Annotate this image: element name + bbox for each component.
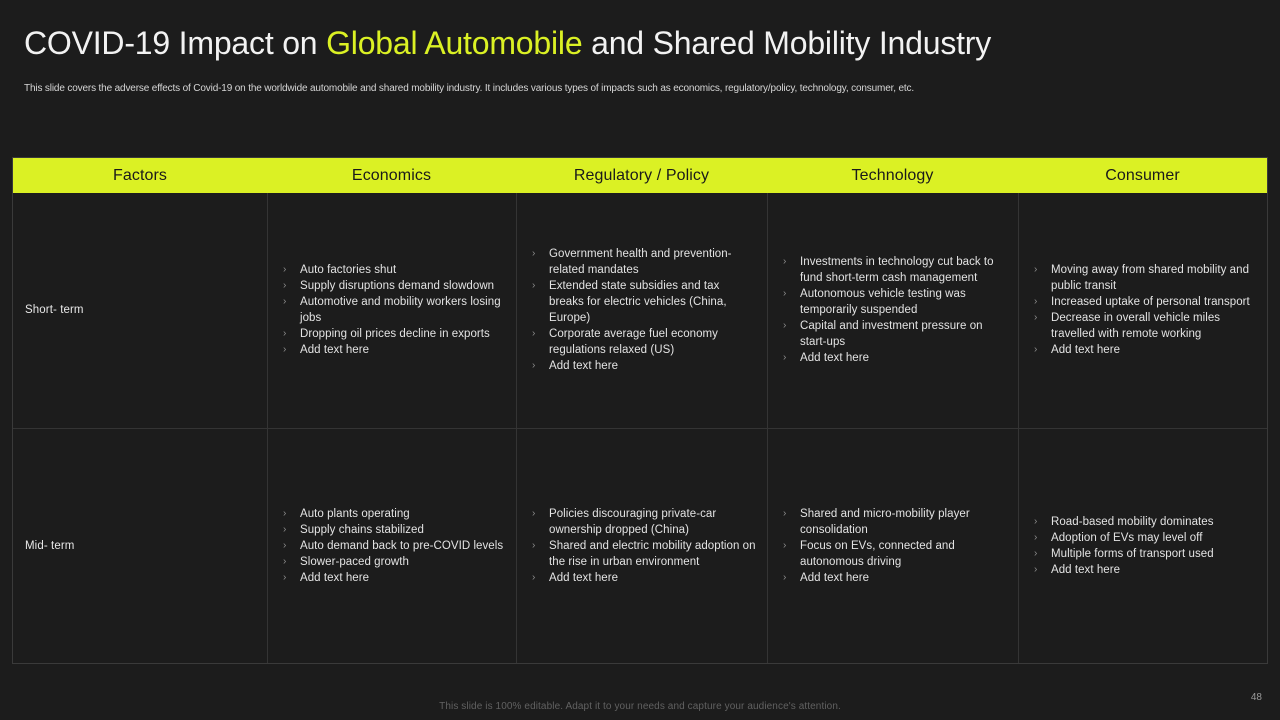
cell-mid-term-regulatory[interactable]: ›Policies discouraging private-car owner… [516,429,767,664]
bullet-text: Shared and electric mobility adoption on… [549,540,756,568]
bullet-item: › Increased uptake of personal transport [1031,294,1257,310]
bullet-item: ›Corporate average fuel economy regulati… [529,326,757,358]
column-header-regulatory-policy: Regulatory / Policy [516,158,767,193]
cell-mid-term-economics[interactable]: ›Auto plants operating›Supply chains sta… [267,429,516,664]
bullet-list: ›Moving away from shared mobility and pu… [1031,262,1257,358]
bullet-item: ›Add text here [529,358,757,374]
bullet-text: Government health and prevention-related… [549,248,732,276]
bullet-text: Extended state subsidies and tax breaks … [549,280,727,324]
table-body: Short- term ›Auto factories shut›Supply … [13,193,1267,663]
bullet-text: Multiple forms of transport used [1051,548,1214,560]
cell-mid-term-technology[interactable]: ›Shared and micro-mobility player consol… [767,429,1018,664]
bullet-item: ›Autonomous vehicle testing was temporar… [780,286,1008,318]
chevron-right-icon: › [283,326,286,342]
slide-subtitle: This slide covers the adverse effects of… [24,82,914,96]
bullet-item: ›Policies discouraging private-car owner… [529,506,757,538]
slide-canvas: COVID-19 Impact on Global Automobile and… [0,0,1280,720]
chevron-right-icon: › [783,538,786,554]
cell-short-term-consumer[interactable]: ›Moving away from shared mobility and pu… [1018,193,1267,428]
bullet-item: ›Add text here [1031,342,1257,358]
bullet-list: ›Policies discouraging private-car owner… [529,506,757,586]
chevron-right-icon: › [1034,262,1037,278]
bullet-text: Auto factories shut [300,264,396,276]
cell-short-term-economics[interactable]: ›Auto factories shut›Supply disruptions … [267,193,516,428]
page-title: COVID-19 Impact on Global Automobile and… [24,22,991,64]
chevron-right-icon: › [1034,310,1037,326]
bullet-item: ›Slower-paced growth [280,554,506,570]
bullet-text: Policies discouraging private-car owners… [549,508,716,536]
bullet-list: ›Government health and prevention-relate… [529,246,757,374]
chevron-right-icon: › [283,538,286,554]
bullet-text: Automotive and mobility workers losing j… [300,296,501,324]
bullet-text: Supply disruptions demand slowdown [300,280,494,292]
bullet-text: Shared and micro-mobility player consoli… [800,508,970,536]
bullet-text: Road-based mobility dominates [1051,516,1214,528]
title-text-accent: Global Automobile [326,25,582,61]
row-label-cell-mid-term: Mid- term [13,429,267,664]
table-row: Short- term ›Auto factories shut›Supply … [13,193,1267,428]
bullet-item: ›Auto factories shut [280,262,506,278]
bullet-text: Auto demand back to pre-COVID levels [300,540,503,552]
bullet-item: ›Supply disruptions demand slowdown [280,278,506,294]
bullet-item: ›Shared and electric mobility adoption o… [529,538,757,570]
bullet-item: ›Dropping oil prices decline in exports [280,326,506,342]
bullet-text: Increased uptake of personal transport [1051,296,1250,308]
impact-table: Factors Economics Regulatory / Policy Te… [12,157,1268,664]
column-header-consumer: Consumer [1018,158,1267,193]
bullet-text: Add text here [300,572,369,584]
column-header-technology: Technology [767,158,1018,193]
bullet-text: Add text here [1051,564,1120,576]
chevron-right-icon: › [283,522,286,538]
bullet-item: › Capital and investment pressure on sta… [780,318,1008,350]
chevron-right-icon: › [283,262,286,278]
chevron-right-icon: › [783,286,786,302]
title-text-tail: and Shared Mobility Industry [582,25,991,61]
chevron-right-icon: › [1034,562,1037,578]
bullet-item: ›Shared and micro-mobility player consol… [780,506,1008,538]
chevron-right-icon: › [532,538,535,554]
chevron-right-icon: › [283,294,286,310]
chevron-right-icon: › [1034,530,1037,546]
bullet-list: ›Shared and micro-mobility player consol… [780,506,1008,586]
bullet-list: ›Investments in technology cut back to f… [780,254,1008,366]
title-text-lead: COVID-19 Impact on [24,25,326,61]
bullet-text: Add text here [300,344,369,356]
bullet-text: Add text here [800,572,869,584]
bullet-item: ›Supply chains stabilized [280,522,506,538]
chevron-right-icon: › [532,358,535,374]
bullet-text: Add text here [549,360,618,372]
chevron-right-icon: › [283,570,286,586]
bullet-item: ›Auto demand back to pre-COVID levels [280,538,506,554]
chevron-right-icon: › [283,342,286,358]
row-label-cell-short-term: Short- term [13,193,267,428]
bullet-text: Add text here [1051,344,1120,356]
chevron-right-icon: › [783,254,786,270]
bullet-text: Autonomous vehicle testing was temporari… [800,288,966,316]
bullet-item: ›Extended state subsidies and tax breaks… [529,278,757,326]
bullet-item: ›Multiple forms of transport used [1031,546,1257,562]
cell-short-term-regulatory[interactable]: ›Government health and prevention-relate… [516,193,767,428]
chevron-right-icon: › [532,326,535,342]
chevron-right-icon: › [783,570,786,586]
chevron-right-icon: › [1034,342,1037,358]
bullet-item: ›Add text here [1031,562,1257,578]
cell-short-term-technology[interactable]: ›Investments in technology cut back to f… [767,193,1018,428]
bullet-text: Moving away from shared mobility and pub… [1051,264,1249,292]
bullet-text: Focus on EVs, connected and autonomous d… [800,540,955,568]
page-number: 48 [1251,692,1262,703]
chevron-right-icon: › [1034,546,1037,562]
chevron-right-icon: › [1034,294,1037,310]
cell-mid-term-consumer[interactable]: ›Road-based mobility dominates›Adoption … [1018,429,1267,664]
bullet-text: Add text here [549,572,618,584]
bullet-item: ›Auto plants operating [280,506,506,522]
bullet-text: Slower-paced growth [300,556,409,568]
bullet-item: ›Add text here [780,350,1008,366]
bullet-item: ›Moving away from shared mobility and pu… [1031,262,1257,294]
bullet-text: Auto plants operating [300,508,410,520]
bullet-text: Adoption of EVs may level off [1051,532,1202,544]
bullet-list: ›Auto plants operating›Supply chains sta… [280,506,506,586]
bullet-list: ›Auto factories shut›Supply disruptions … [280,262,506,358]
chevron-right-icon: › [532,278,535,294]
bullet-text: Capital and investment pressure on start… [800,320,983,348]
chevron-right-icon: › [532,506,535,522]
bullet-item: ›Investments in technology cut back to f… [780,254,1008,286]
bullet-text: Corporate average fuel economy regulatio… [549,328,718,356]
chevron-right-icon: › [532,570,535,586]
bullet-text: Decrease in overall vehicle miles travel… [1051,312,1220,340]
chevron-right-icon: › [783,506,786,522]
table-row: Mid- term ›Auto plants operating›Supply … [13,428,1267,664]
bullet-item: ›Add text here [780,570,1008,586]
bullet-item: ›Automotive and mobility workers losing … [280,294,506,326]
column-header-economics: Economics [267,158,516,193]
bullet-text: Add text here [800,352,869,364]
chevron-right-icon: › [1034,514,1037,530]
column-header-factors: Factors [13,158,267,193]
table-header-row: Factors Economics Regulatory / Policy Te… [13,158,1267,193]
bullet-item: ›Adoption of EVs may level off [1031,530,1257,546]
row-label-text: Short- term [25,304,84,316]
bullet-item: ›Decrease in overall vehicle miles trave… [1031,310,1257,342]
bullet-text: Supply chains stabilized [300,524,424,536]
bullet-item: ›Add text here [280,342,506,358]
bullet-item: ›Add text here [529,570,757,586]
chevron-right-icon: › [283,506,286,522]
bullet-item: ›Add text here [280,570,506,586]
chevron-right-icon: › [283,554,286,570]
bullet-item: ›Road-based mobility dominates [1031,514,1257,530]
footer-note: This slide is 100% editable. Adapt it to… [0,701,1280,712]
row-label-text: Mid- term [25,540,74,552]
bullet-item: ›Government health and prevention-relate… [529,246,757,278]
bullet-item: ›Focus on EVs, connected and autonomous … [780,538,1008,570]
bullet-list: ›Road-based mobility dominates›Adoption … [1031,514,1257,578]
bullet-text: Dropping oil prices decline in exports [300,328,490,340]
chevron-right-icon: › [783,350,786,366]
chevron-right-icon: › [283,278,286,294]
bullet-text: Investments in technology cut back to fu… [800,256,994,284]
chevron-right-icon: › [783,318,786,334]
chevron-right-icon: › [532,246,535,262]
